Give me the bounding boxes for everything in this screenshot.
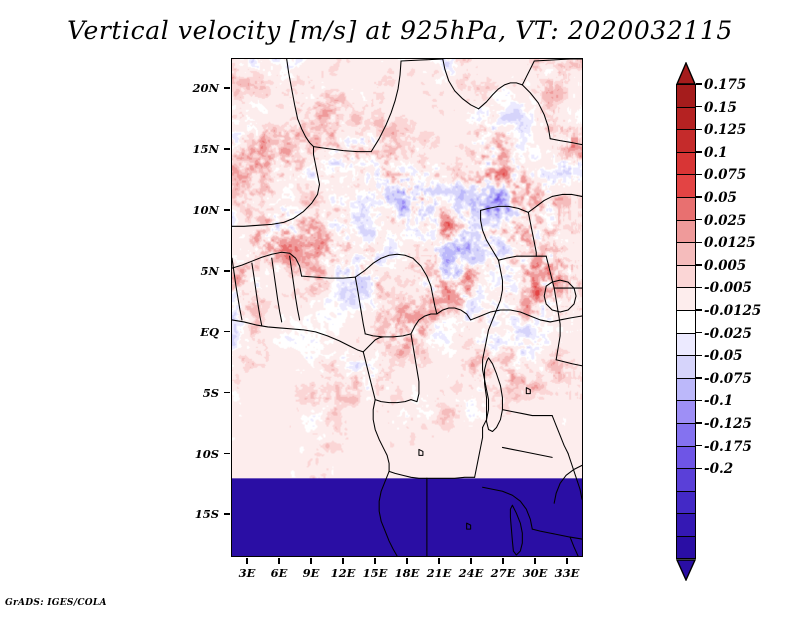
colorbar-tick-mark xyxy=(696,309,702,311)
colorbar-band xyxy=(676,513,696,536)
x-axis-tick-mark xyxy=(406,558,408,564)
colorbar-tick-label: 0.1 xyxy=(704,145,728,161)
colorbar-band xyxy=(676,378,696,401)
colorbar-band xyxy=(676,287,696,310)
colorbar-tick-mark xyxy=(696,83,702,85)
colorbar-band xyxy=(676,333,696,356)
x-axis-tick-mark xyxy=(374,558,376,564)
colorbar-band xyxy=(676,491,696,514)
y-axis-tick-mark xyxy=(224,331,230,333)
colorbar-tick-mark xyxy=(696,332,702,334)
y-axis-tick-mark xyxy=(224,148,230,150)
y-axis-tick-mark xyxy=(224,209,230,211)
colorbar-tick-mark xyxy=(696,264,702,266)
grads-credit: GrADS: IGES/COLA xyxy=(5,598,107,608)
x-axis-tick-mark xyxy=(310,558,312,564)
x-axis-tick-mark xyxy=(342,558,344,564)
colorbar-tick-mark xyxy=(696,468,702,470)
colorbar-tick-label: -0.125 xyxy=(704,416,752,432)
colorbar-tick-label: 0.125 xyxy=(704,122,746,138)
colorbar-tick-mark xyxy=(696,242,702,244)
colorbar-tick-label: -0.0125 xyxy=(704,303,761,319)
colorbar-band xyxy=(676,355,696,378)
y-axis-tick-mark xyxy=(224,392,230,394)
colorbar-tick-label: 0.05 xyxy=(704,190,737,206)
colorbar-tick-mark xyxy=(696,422,702,424)
y-axis-tick-label: 10S xyxy=(173,447,219,461)
colorbar-tick-mark xyxy=(696,106,702,108)
colorbar-band xyxy=(676,400,696,423)
colorbar-tick-mark xyxy=(696,151,702,153)
colorbar-tick-mark xyxy=(696,196,702,198)
y-axis-tick-mark xyxy=(224,270,230,272)
y-axis-tick-label: 15S xyxy=(173,507,219,521)
y-axis-tick-mark xyxy=(224,513,230,515)
x-axis-tick-mark xyxy=(278,558,280,564)
y-axis-tick-mark xyxy=(224,87,230,89)
colorbar-band xyxy=(676,197,696,220)
colorbar-tick-mark xyxy=(696,287,702,289)
x-axis-tick-mark xyxy=(566,558,568,564)
colorbar-min-extend-cap xyxy=(676,559,696,581)
colorbar-tick-label: 0.15 xyxy=(704,100,737,116)
colorbar-band xyxy=(676,84,696,107)
colorbar-tick-mark xyxy=(696,355,702,357)
colorbar-band xyxy=(676,107,696,130)
map-plot-panel[interactable] xyxy=(231,58,583,557)
colorbar-tick-label: 0.025 xyxy=(704,213,746,229)
colorbar[interactable]: 0.1750.150.1250.10.0750.050.0250.01250.0… xyxy=(676,62,696,558)
x-axis-tick-mark xyxy=(534,558,536,564)
colorbar-band xyxy=(676,468,696,491)
y-axis-tick-mark xyxy=(224,453,230,455)
colorbar-tick-label: -0.025 xyxy=(704,326,752,342)
colorbar-tick-label: -0.005 xyxy=(704,280,752,296)
y-axis-tick-label: 5N xyxy=(173,264,219,278)
y-axis-tick-label: EQ xyxy=(173,325,219,339)
colorbar-tick-label: -0.2 xyxy=(704,461,733,477)
colorbar-tick-mark xyxy=(696,400,702,402)
colorbar-tick-label: -0.05 xyxy=(704,348,742,364)
colorbar-tick-mark xyxy=(696,445,702,447)
y-axis-tick-label: 10N xyxy=(173,203,219,217)
colorbar-band xyxy=(676,129,696,152)
colorbar-tick-label: -0.1 xyxy=(704,393,733,409)
colorbar-tick-label: 0.175 xyxy=(704,77,746,93)
vertical-velocity-heatmap xyxy=(232,59,582,556)
colorbar-tick-mark xyxy=(696,129,702,131)
colorbar-band xyxy=(676,174,696,197)
colorbar-tick-mark xyxy=(696,219,702,221)
colorbar-tick-label: -0.075 xyxy=(704,371,752,387)
colorbar-tick-label: -0.175 xyxy=(704,439,752,455)
x-axis-tick-mark xyxy=(502,558,504,564)
colorbar-band xyxy=(676,220,696,243)
colorbar-band xyxy=(676,536,696,559)
x-axis-tick-mark xyxy=(438,558,440,564)
colorbar-tick-label: 0.075 xyxy=(704,167,746,183)
x-axis-tick-mark xyxy=(470,558,472,564)
colorbar-band xyxy=(676,152,696,175)
colorbar-band xyxy=(676,242,696,265)
colorbar-max-extend-cap xyxy=(676,62,696,84)
y-axis-tick-label: 20N xyxy=(173,81,219,95)
colorbar-tick-label: 0.005 xyxy=(704,258,746,274)
colorbar-band xyxy=(676,423,696,446)
y-axis-tick-label: 15N xyxy=(173,142,219,156)
colorbar-tick-mark xyxy=(696,377,702,379)
x-axis-tick-label: 33E xyxy=(546,566,588,580)
colorbar-tick-label: 0.0125 xyxy=(704,235,756,251)
colorbar-band xyxy=(676,265,696,288)
colorbar-band xyxy=(676,310,696,333)
x-axis-tick-mark xyxy=(246,558,248,564)
y-axis-tick-label: 5S xyxy=(173,386,219,400)
page-title: Vertical velocity [m/s] at 925hPa, VT: 2… xyxy=(0,16,800,45)
colorbar-band xyxy=(676,446,696,469)
colorbar-tick-mark xyxy=(696,174,702,176)
